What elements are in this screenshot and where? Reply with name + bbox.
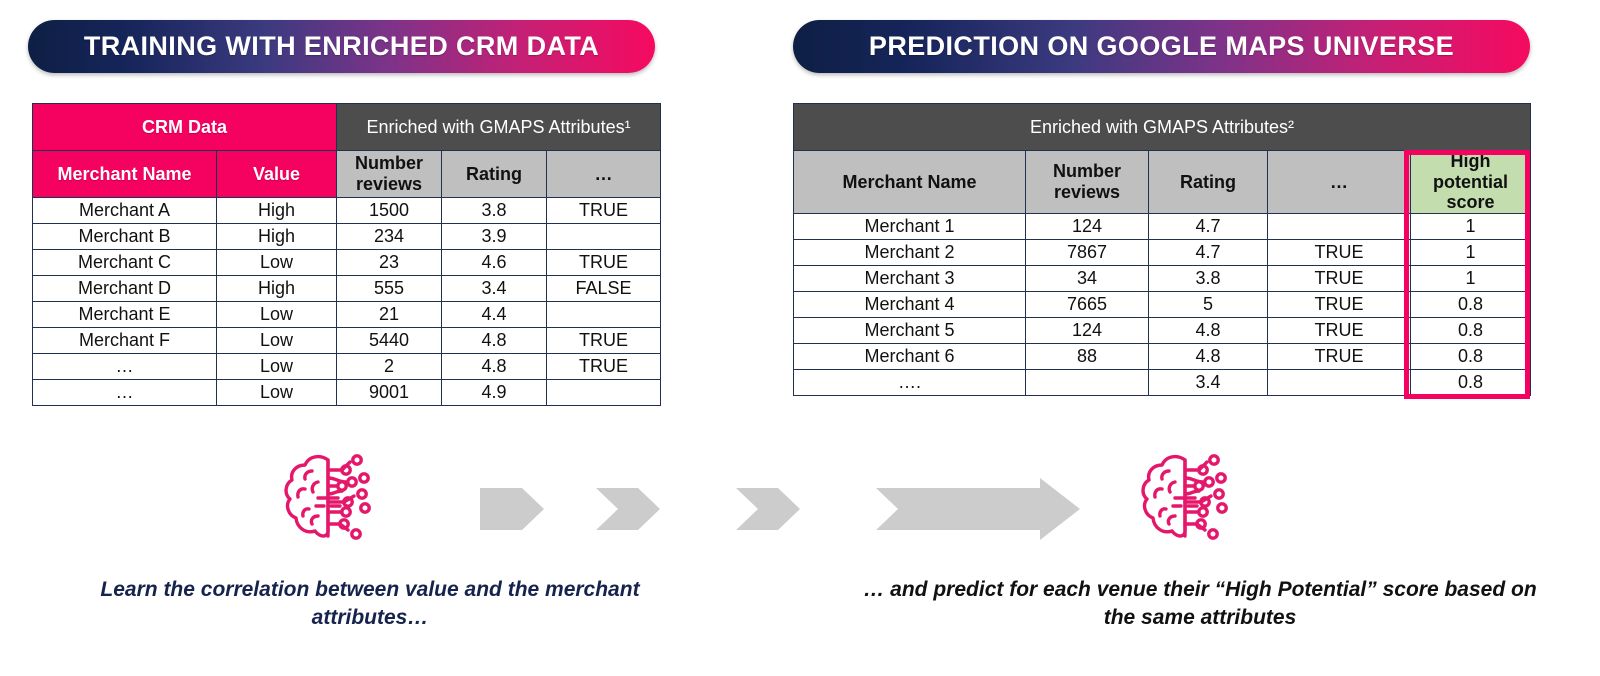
column-header-rating: Rating	[1149, 151, 1268, 214]
cell-other: TRUE	[547, 354, 661, 380]
cell-other	[1268, 370, 1411, 396]
table-group-header-row: Enriched with GMAPS Attributes²	[794, 104, 1531, 151]
cell-value: Low	[217, 250, 337, 276]
table-row: Merchant B High 234 3.9	[33, 224, 661, 250]
cell-other: TRUE	[1268, 240, 1411, 266]
cell-rating: 4.8	[1149, 344, 1268, 370]
cell-merchant-name: Merchant 1	[794, 214, 1026, 240]
cell-rating: 3.8	[1149, 266, 1268, 292]
cell-merchant-name: Merchant B	[33, 224, 217, 250]
cell-value: Low	[217, 302, 337, 328]
table-row: Merchant F Low 5440 4.8 TRUE	[33, 328, 661, 354]
table-row: …. 3.4 0.8	[794, 370, 1531, 396]
table-row: Merchant C Low 23 4.6 TRUE	[33, 250, 661, 276]
table-row: Merchant E Low 21 4.4	[33, 302, 661, 328]
cell-high-potential-score: 0.8	[1411, 370, 1531, 396]
cell-value: High	[217, 198, 337, 224]
process-arrow-2	[596, 488, 660, 530]
cell-rating: 4.7	[1149, 240, 1268, 266]
cell-merchant-name: Merchant E	[33, 302, 217, 328]
column-header-number-reviews: Number reviews	[337, 151, 442, 198]
cell-rating: 3.4	[442, 276, 547, 302]
panel-title-training-label: TRAINING WITH ENRICHED CRM DATA	[84, 31, 599, 62]
cell-rating: 4.6	[442, 250, 547, 276]
cell-number-reviews	[1026, 370, 1149, 396]
cell-number-reviews: 555	[337, 276, 442, 302]
cell-number-reviews: 9001	[337, 380, 442, 406]
cell-value: High	[217, 276, 337, 302]
caption-prediction: … and predict for each venue their “High…	[862, 576, 1538, 633]
cell-merchant-name: Merchant 4	[794, 292, 1026, 318]
cell-merchant-name: Merchant 3	[794, 266, 1026, 292]
cell-merchant-name: Merchant C	[33, 250, 217, 276]
cell-rating: 5	[1149, 292, 1268, 318]
cell-merchant-name: ….	[794, 370, 1026, 396]
table-row: Merchant 2 7867 4.7 TRUE 1	[794, 240, 1531, 266]
column-header-number-reviews: Number reviews	[1026, 151, 1149, 214]
table-row: Merchant 4 7665 5 TRUE 0.8	[794, 292, 1531, 318]
cell-number-reviews: 34	[1026, 266, 1149, 292]
cell-high-potential-score: 1	[1411, 266, 1531, 292]
cell-rating: 3.4	[1149, 370, 1268, 396]
cell-value: High	[217, 224, 337, 250]
cell-value: Low	[217, 380, 337, 406]
cell-other: TRUE	[1268, 344, 1411, 370]
process-arrow-band	[480, 478, 1080, 545]
cell-number-reviews: 5440	[337, 328, 442, 354]
cell-number-reviews: 88	[1026, 344, 1149, 370]
table-row: Merchant 6 88 4.8 TRUE 0.8	[794, 344, 1531, 370]
cell-high-potential-score: 0.8	[1411, 344, 1531, 370]
table-row: Merchant 3 34 3.8 TRUE 1	[794, 266, 1531, 292]
table-column-header-row: Merchant Name Number reviews Rating … Hi…	[794, 151, 1531, 214]
cell-merchant-name: Merchant A	[33, 198, 217, 224]
cell-merchant-name: …	[33, 380, 217, 406]
column-header-rating: Rating	[442, 151, 547, 198]
column-header-value: Value	[217, 151, 337, 198]
cell-merchant-name: Merchant 6	[794, 344, 1026, 370]
cell-merchant-name: Merchant D	[33, 276, 217, 302]
cell-value: Low	[217, 354, 337, 380]
cell-merchant-name: Merchant F	[33, 328, 217, 354]
cell-rating: 3.9	[442, 224, 547, 250]
cell-rating: 4.8	[1149, 318, 1268, 344]
table-row: Merchant A High 1500 3.8 TRUE	[33, 198, 661, 224]
cell-rating: 4.8	[442, 328, 547, 354]
cell-rating: 4.9	[442, 380, 547, 406]
table-row: Merchant D High 555 3.4 FALSE	[33, 276, 661, 302]
ai-brain-icon	[276, 446, 380, 555]
cell-number-reviews: 23	[337, 250, 442, 276]
column-header-high-potential-score: High potential score	[1411, 151, 1531, 214]
cell-number-reviews: 2	[337, 354, 442, 380]
cell-number-reviews: 7665	[1026, 292, 1149, 318]
table-column-header-row: Merchant Name Value Number reviews Ratin…	[33, 151, 661, 198]
cell-rating: 4.4	[442, 302, 547, 328]
cell-number-reviews: 124	[1026, 318, 1149, 344]
cell-high-potential-score: 0.8	[1411, 318, 1531, 344]
column-header-merchant-name: Merchant Name	[794, 151, 1026, 214]
cell-other: FALSE	[547, 276, 661, 302]
cell-other	[547, 380, 661, 406]
cell-high-potential-score: 1	[1411, 214, 1531, 240]
cell-merchant-name: …	[33, 354, 217, 380]
ai-brain-icon	[1133, 446, 1237, 555]
cell-rating: 3.8	[442, 198, 547, 224]
cell-other: TRUE	[1268, 292, 1411, 318]
caption-training: Learn the correlation between value and …	[60, 576, 680, 633]
table-row: … Low 9001 4.9	[33, 380, 661, 406]
process-arrow-4	[876, 478, 1080, 540]
cell-number-reviews: 124	[1026, 214, 1149, 240]
group-header-enriched-gmaps: Enriched with GMAPS Attributes²	[794, 104, 1531, 151]
cell-other	[547, 302, 661, 328]
table-row: Merchant 1 124 4.7 1	[794, 214, 1531, 240]
cell-value: Low	[217, 328, 337, 354]
table-group-header-row: CRM Data Enriched with GMAPS Attributes¹	[33, 104, 661, 151]
column-header-ellipsis: …	[1268, 151, 1411, 214]
cell-number-reviews: 7867	[1026, 240, 1149, 266]
panel-title-training: TRAINING WITH ENRICHED CRM DATA	[28, 20, 655, 73]
group-header-crm-data: CRM Data	[33, 104, 337, 151]
panel-title-prediction-label: PREDICTION ON GOOGLE MAPS UNIVERSE	[869, 31, 1454, 62]
column-header-merchant-name: Merchant Name	[33, 151, 217, 198]
cell-rating: 4.8	[442, 354, 547, 380]
cell-high-potential-score: 0.8	[1411, 292, 1531, 318]
group-header-enriched-gmaps: Enriched with GMAPS Attributes¹	[337, 104, 661, 151]
cell-other: TRUE	[547, 250, 661, 276]
cell-number-reviews: 21	[337, 302, 442, 328]
cell-other: TRUE	[1268, 266, 1411, 292]
panel-title-prediction: PREDICTION ON GOOGLE MAPS UNIVERSE	[793, 20, 1530, 73]
process-arrow-1	[480, 488, 544, 530]
cell-other	[1268, 214, 1411, 240]
table-row: Merchant 5 124 4.8 TRUE 0.8	[794, 318, 1531, 344]
gmaps-prediction-table: Enriched with GMAPS Attributes² Merchant…	[793, 103, 1531, 396]
column-header-ellipsis: …	[547, 151, 661, 198]
cell-merchant-name: Merchant 5	[794, 318, 1026, 344]
cell-number-reviews: 234	[337, 224, 442, 250]
cell-other	[547, 224, 661, 250]
cell-merchant-name: Merchant 2	[794, 240, 1026, 266]
cell-other: TRUE	[1268, 318, 1411, 344]
cell-other: TRUE	[547, 198, 661, 224]
crm-training-table: CRM Data Enriched with GMAPS Attributes¹…	[32, 103, 661, 406]
cell-number-reviews: 1500	[337, 198, 442, 224]
process-arrow-3	[736, 488, 800, 530]
cell-rating: 4.7	[1149, 214, 1268, 240]
cell-high-potential-score: 1	[1411, 240, 1531, 266]
cell-other: TRUE	[547, 328, 661, 354]
table-row: … Low 2 4.8 TRUE	[33, 354, 661, 380]
